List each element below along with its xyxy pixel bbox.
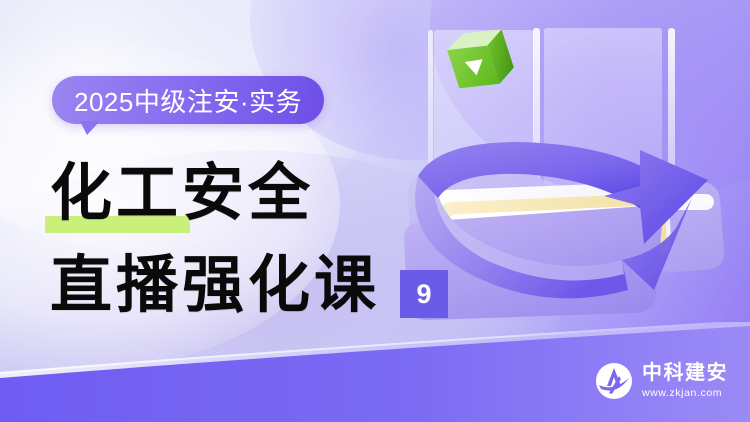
brand-url: www.zkjan.com <box>642 388 728 399</box>
course-category-label: 2025中级注安·实务 <box>74 82 302 119</box>
badge-tail <box>80 121 100 135</box>
zkjan-logo-icon <box>595 362 633 400</box>
page-title: 化工安全 <box>50 163 314 225</box>
brand-logo: 中科建安 www.zkjan.com <box>595 362 728 400</box>
curved-arrow-icon <box>408 140 738 330</box>
page-subtitle: 直播强化课 <box>50 255 380 317</box>
course-promo-banner: 2025中级注安·实务 化工安全 直播强化课 9 中科建安 www.zkjan.… <box>0 0 750 422</box>
episode-badge: 9 <box>400 270 448 318</box>
brand-text: 中科建安 www.zkjan.com <box>642 363 728 399</box>
course-category-badge: 2025中级注安·实务 <box>52 76 324 124</box>
episode-number: 9 <box>416 279 431 310</box>
text-content: 2025中级注安·实务 化工安全 直播强化课 9 <box>0 0 430 422</box>
brand-name: 中科建安 <box>642 363 728 383</box>
